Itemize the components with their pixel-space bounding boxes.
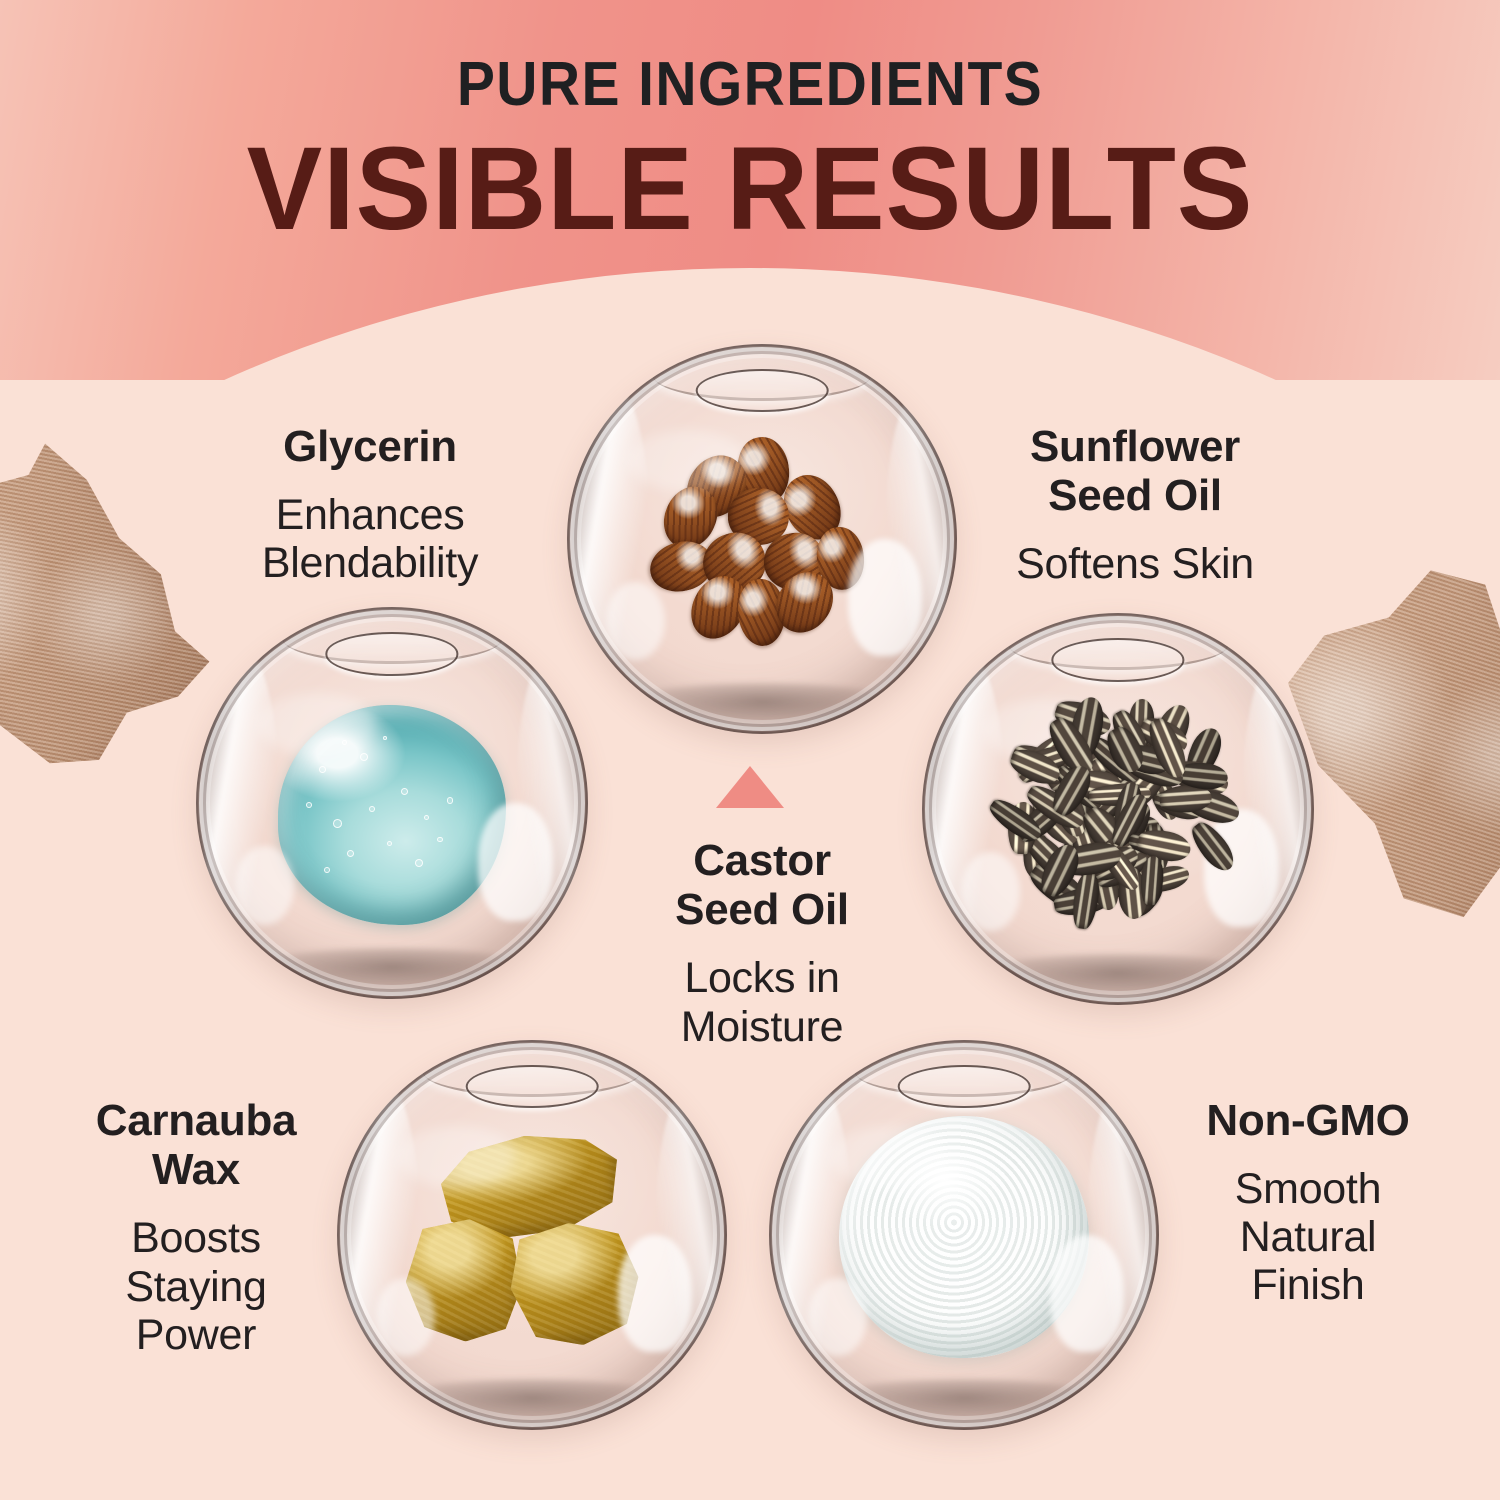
carnauba-wax-chunks	[411, 1132, 653, 1350]
label-title: Castor Seed Oil	[586, 836, 938, 935]
ingredient-label-non-gmo: Non-GMO Smooth Natural Finish	[1148, 1078, 1468, 1327]
infographic-canvas: PURE INGREDIENTS VISIBLE RESULTS	[0, 0, 1500, 1500]
ingredient-label-glycerin: Glycerin Enhances Blendability	[170, 404, 570, 605]
triangle-up-icon	[716, 766, 784, 808]
glycerin-gel-blob	[278, 705, 505, 925]
ingredient-sphere-glycerin[interactable]	[196, 607, 588, 999]
white-powder-mound	[839, 1116, 1089, 1358]
ingredient-sphere-carnauba-wax[interactable]	[337, 1040, 727, 1430]
ingredient-label-castor-seed-oil: Castor Seed Oil Locks in Moisture	[586, 818, 938, 1069]
glass-bowl	[769, 1040, 1159, 1430]
glass-bowl	[922, 613, 1314, 1005]
label-subtitle: Softens Skin	[940, 540, 1330, 588]
ingredient-label-carnauba-wax: Carnauba Wax Boosts Staying Power	[36, 1078, 356, 1377]
sphere-content	[337, 1040, 727, 1430]
label-subtitle: Locks in Moisture	[586, 954, 938, 1050]
label-title: Non-GMO	[1148, 1096, 1468, 1145]
label-title: Carnauba Wax	[36, 1096, 356, 1195]
sphere-content	[196, 607, 588, 999]
sphere-content	[769, 1040, 1159, 1430]
label-subtitle: Smooth Natural Finish	[1148, 1165, 1468, 1309]
castor-seeds-cluster	[661, 442, 864, 645]
sphere-content	[567, 344, 957, 734]
label-subtitle: Boosts Staying Power	[36, 1214, 356, 1358]
ingredient-sphere-sunflower-seed-oil[interactable]	[922, 613, 1314, 1005]
header-banner	[0, 0, 1500, 380]
sunflower-seeds-pile	[996, 689, 1239, 932]
glass-bowl	[196, 607, 588, 999]
glass-bowl	[567, 344, 957, 734]
ingredient-sphere-castor-seed-oil[interactable]	[567, 344, 957, 734]
ingredient-label-sunflower-seed-oil: Sunflower Seed Oil Softens Skin	[940, 404, 1330, 606]
label-title: Sunflower Seed Oil	[940, 422, 1330, 521]
glass-bowl	[337, 1040, 727, 1430]
label-subtitle: Enhances Blendability	[170, 491, 570, 587]
sphere-content	[922, 613, 1314, 1005]
label-title: Glycerin	[170, 422, 570, 471]
ingredient-sphere-non-gmo[interactable]	[769, 1040, 1159, 1430]
sunflower-seed	[1186, 816, 1240, 876]
